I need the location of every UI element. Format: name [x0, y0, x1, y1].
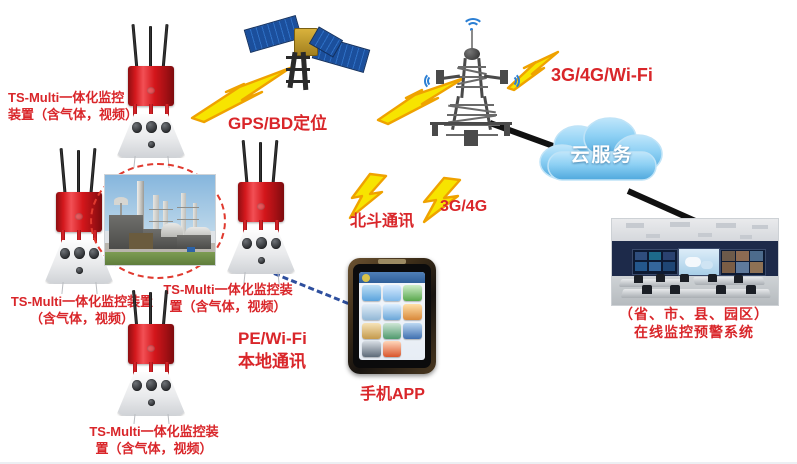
- satellite: [246, 12, 366, 104]
- rugged-tablet[interactable]: [348, 258, 436, 374]
- app-icon-6[interactable]: [403, 304, 421, 320]
- local-comm-label: PE/Wi-Fi 本地通讯: [238, 328, 307, 374]
- cloud-service-label: 云服务: [538, 140, 666, 167]
- wifi-icon-tower-left: [424, 72, 440, 86]
- video-wall-panel-1: [632, 249, 678, 275]
- app-icon-2[interactable]: [383, 285, 401, 301]
- gps-label: GPS/BD定位: [228, 113, 327, 135]
- app-icon-9[interactable]: [403, 323, 421, 339]
- cell-tower: [424, 18, 516, 154]
- tablet-app-grid[interactable]: [362, 285, 421, 357]
- app-icon-10[interactable]: [362, 341, 380, 357]
- phone-app-label: 手机APP: [360, 385, 425, 405]
- beidou-label: 北斗通讯: [350, 212, 414, 232]
- app-icon-3[interactable]: [403, 285, 421, 301]
- sensor-device-center[interactable]: [218, 140, 304, 286]
- industrial-plant-photo: [104, 174, 216, 266]
- video-wall-panel-3: [720, 249, 766, 276]
- sensor-device-bottom-label: TS-Multi一体化监控装 置（含气体，视频）: [66, 424, 242, 457]
- monitoring-center-label: （省、市、县、园区） 在线监控预警系统: [598, 306, 790, 342]
- app-icon-8[interactable]: [383, 323, 401, 339]
- mobile-3g4g-wifi-label: 3G/4G/Wi-Fi: [551, 64, 653, 87]
- tablet-screen[interactable]: [359, 272, 425, 360]
- wifi-icon-tower-right: [502, 72, 518, 86]
- mobile-3g4g-label: 3G/4G: [440, 197, 487, 217]
- diagram-canvas: 云服务 TS-Multi一体化监控 装置（含气体，视频） TS-M: [0, 0, 797, 464]
- app-icon-11[interactable]: [383, 341, 401, 357]
- sensor-device-top-left-label: TS-Multi一体化监控 装置（含气体，视频）: [8, 90, 138, 123]
- cloud-service[interactable]: 云服务: [538, 116, 666, 192]
- app-icon-5[interactable]: [383, 304, 401, 320]
- video-wall-panel-2: [678, 248, 720, 276]
- app-icon-1[interactable]: [362, 285, 380, 301]
- monitoring-center-photo: [611, 218, 779, 306]
- app-icon-7[interactable]: [362, 323, 380, 339]
- sensor-device-bottom[interactable]: [108, 290, 194, 420]
- app-icon-4[interactable]: [362, 304, 380, 320]
